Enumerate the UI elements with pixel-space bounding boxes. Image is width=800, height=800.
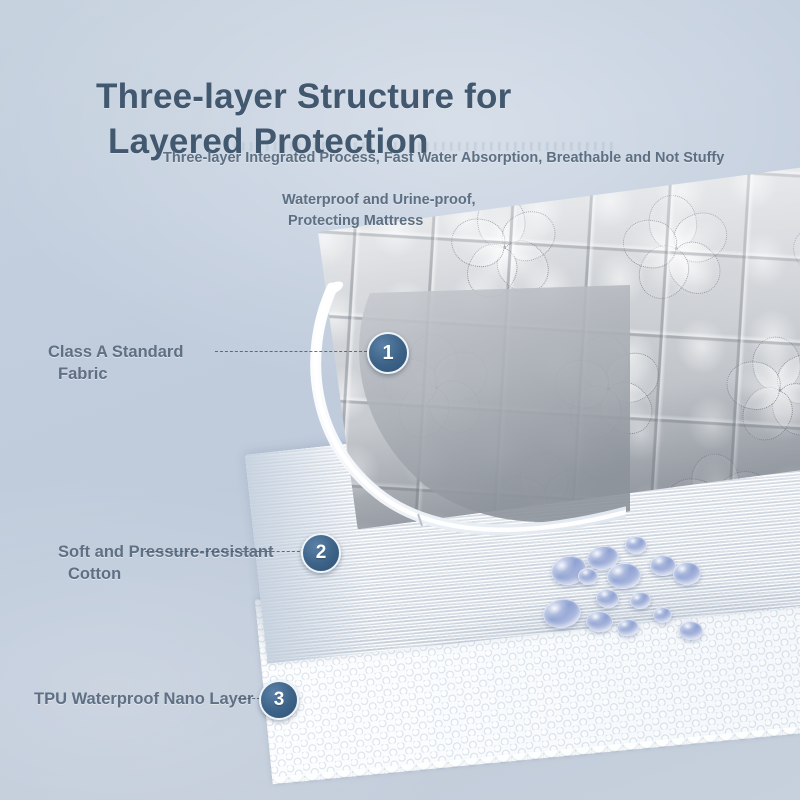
subtitle-secondary-line-2: Protecting Mattress [282,211,702,232]
subtitle-secondary: Waterproof and Urine-proof, Protecting M… [282,190,702,232]
callout-3-line-1: TPU Waterproof Nano Layer [34,690,253,708]
leader-line-3 [238,698,260,699]
subtitle-secondary-line-1: Waterproof and Urine-proof, [282,192,476,208]
title-line-1: Three-layer Structure for [96,77,511,116]
callout-2-line-1: Soft and Pressure-resistant [58,543,273,561]
callout-label-2: Soft and Pressure-resistant Cotton [58,541,273,586]
callout-label-1: Class A Standard Fabric [48,341,183,386]
callout-1-line-1: Class A Standard [48,343,183,361]
subtitle-primary: Three-layer Integrated Process, Fast Wat… [163,150,783,166]
product-infographic: Three-layer Structure for Layered Protec… [0,0,800,800]
leader-line-2 [145,551,305,552]
callout-1-line-2: Fabric [48,363,183,385]
callout-label-3: TPU Waterproof Nano Layer [34,688,253,710]
water-droplet [653,607,672,623]
callout-badge-1[interactable]: 1 [367,332,409,374]
callout-2-line-2: Cotton [58,563,273,585]
callout-badge-3[interactable]: 3 [259,680,299,720]
leader-line-1 [215,351,367,352]
callout-badge-2[interactable]: 2 [301,533,341,573]
